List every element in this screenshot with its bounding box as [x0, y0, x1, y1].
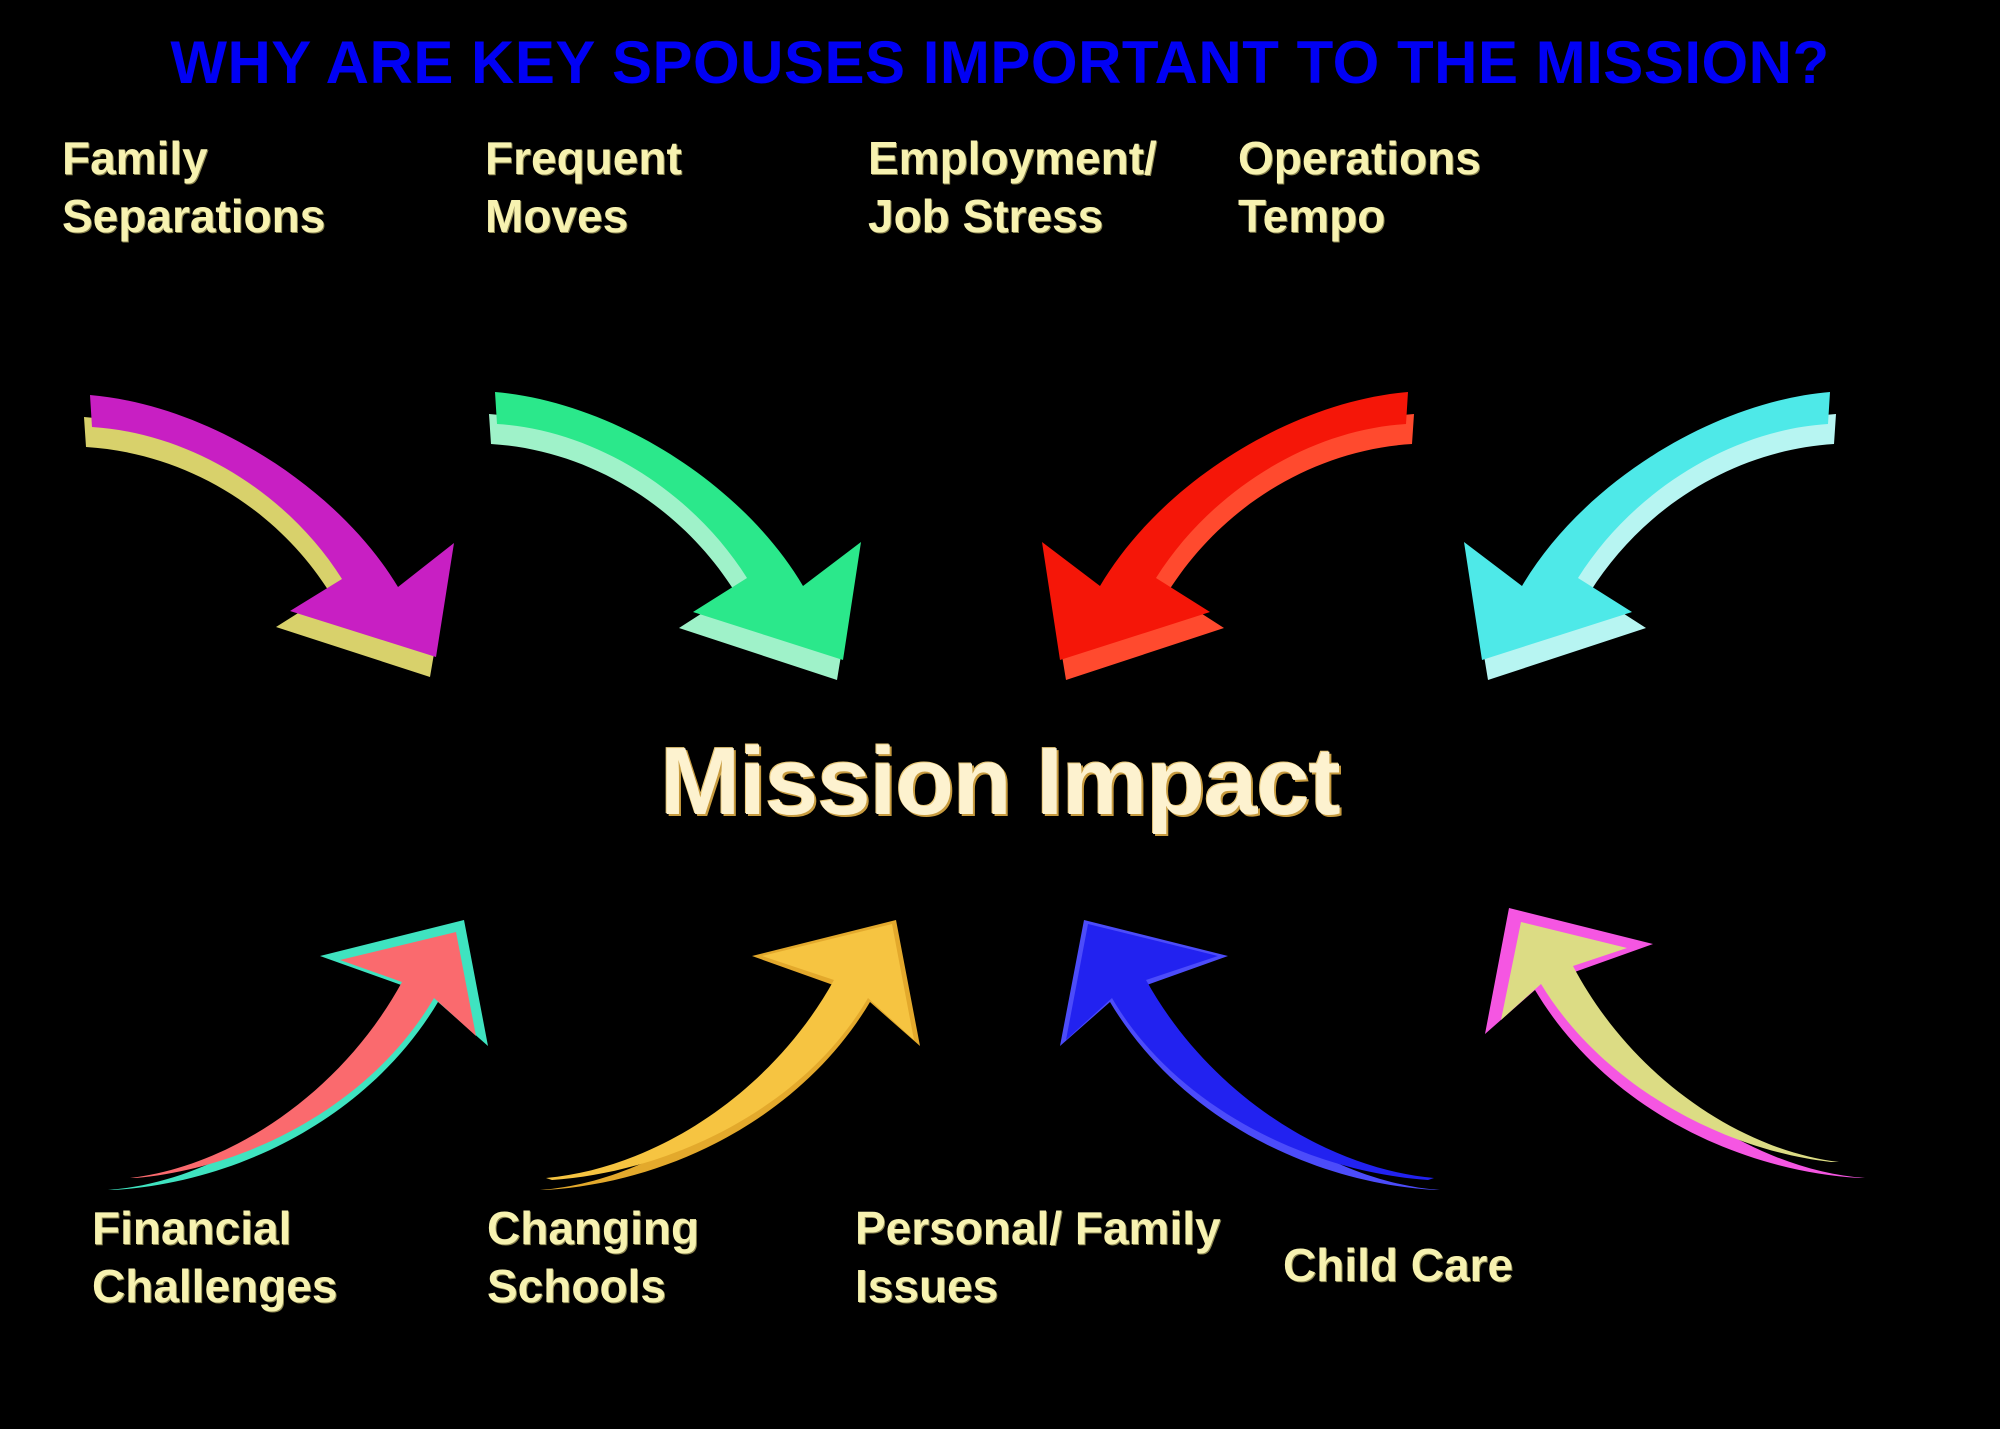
arrow-face [495, 392, 861, 660]
arrow-employment-job-stress [1018, 392, 1418, 682]
center-label: Mission Impact [0, 727, 2000, 837]
arrow-face [1066, 924, 1434, 1180]
label-operations-tempo: Operations Tempo [1238, 130, 1481, 245]
arrow-face [90, 395, 454, 657]
arrow-personal-family-issues [1030, 890, 1440, 1190]
arrow-child-care [1455, 878, 1865, 1178]
label-frequent-moves: Frequent Moves [485, 130, 682, 245]
arrow-changing-schools [540, 890, 950, 1190]
label-changing-schools: Changing Schools [487, 1200, 699, 1315]
label-child-care: Child Care [1283, 1237, 1513, 1295]
arrow-face [546, 924, 914, 1180]
arrow-financial-challenges [108, 890, 518, 1190]
arrow-face [1501, 922, 1839, 1162]
label-personal-family-issues: Personal/ Family Issues [855, 1200, 1221, 1315]
arrow-operations-tempo [1440, 392, 1840, 682]
page-title: WHY ARE KEY SPOUSES IMPORTANT TO THE MIS… [0, 28, 2000, 97]
label-financial-challenges: Financial Challenges [92, 1200, 337, 1315]
label-employment-job-stress: Employment/ Job Stress [868, 130, 1157, 245]
arrow-face [130, 932, 476, 1178]
slide-canvas: WHY ARE KEY SPOUSES IMPORTANT TO THE MIS… [0, 0, 2000, 1429]
arrow-family-separations [80, 395, 480, 675]
label-family-separations: Family Separations [62, 130, 325, 245]
arrow-face [1464, 392, 1830, 660]
arrow-frequent-moves [485, 392, 885, 682]
arrow-face [1042, 392, 1408, 660]
